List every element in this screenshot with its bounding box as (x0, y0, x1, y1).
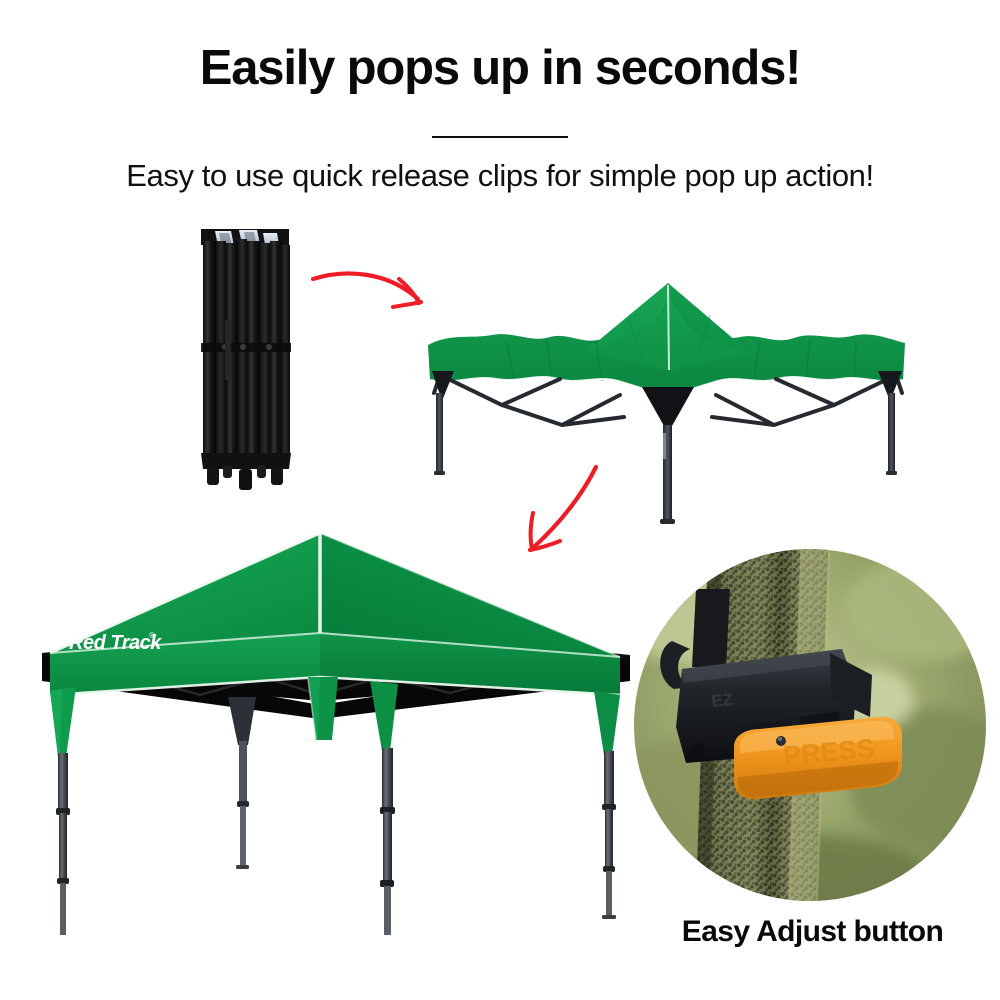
trademark-symbol: ® (149, 631, 155, 640)
easy-adjust-photo: EZ PRESS (634, 549, 986, 901)
folded-frame-illustration (185, 225, 305, 490)
infographic-canvas: Easily pops up in seconds! Easy to use q… (0, 0, 1000, 1000)
page-title: Easily pops up in seconds! (0, 40, 1000, 96)
page-subtitle: Easy to use quick release clips for simp… (0, 158, 1000, 194)
inset-caption: Easy Adjust button (640, 915, 985, 949)
canopy-legs (56, 741, 616, 935)
partially-open-canopy-illustration (410, 275, 920, 530)
title-divider (432, 136, 568, 138)
full-canopy-illustration: Red Track ® (20, 505, 650, 935)
clip-embossed-text: EZ (710, 690, 734, 711)
